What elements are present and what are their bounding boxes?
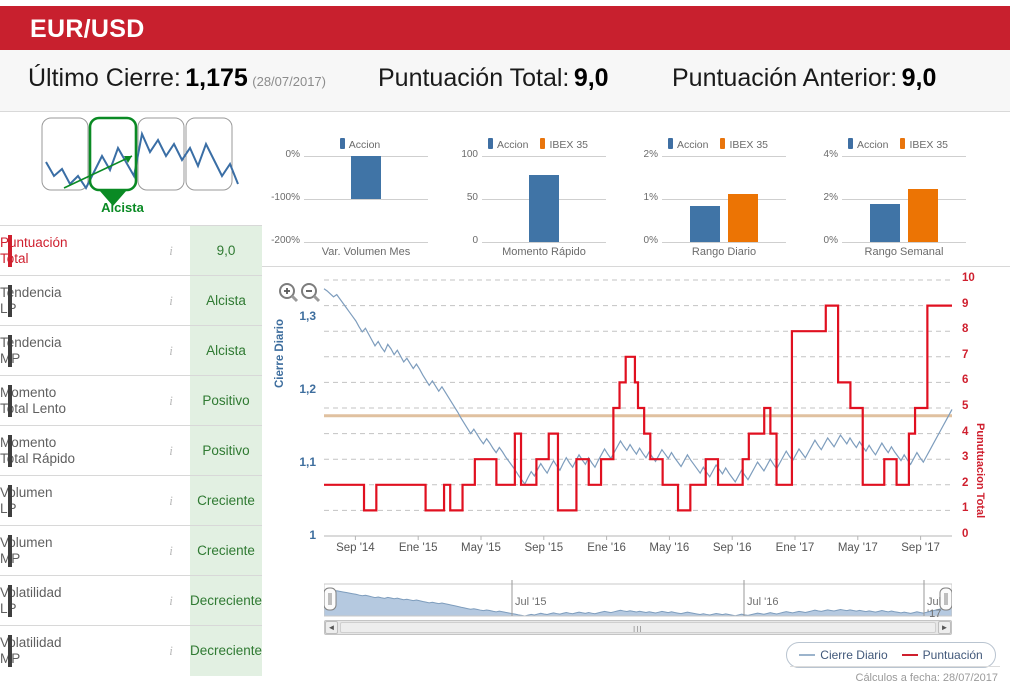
row-accent-bar	[8, 635, 12, 667]
info-icon[interactable]: i	[169, 243, 173, 258]
y-tick-right: 4	[962, 426, 982, 438]
bar-accion	[351, 156, 381, 199]
row-accent-bar	[8, 535, 12, 567]
info-icon[interactable]: i	[169, 343, 173, 358]
mini-plot: 0%-100%-200%Var. Volumen Mes	[304, 156, 428, 242]
indicator-row[interactable]: VolumenLPiCreciente	[0, 476, 262, 526]
y-tick: 2%	[628, 149, 658, 160]
y-tick: 1%	[628, 192, 658, 203]
bar-accion	[529, 175, 559, 242]
gridline	[842, 199, 966, 200]
legend-swatch-puntuacion	[902, 654, 918, 656]
legend-label: Accion	[857, 139, 889, 151]
indicator-table: PuntuaciónTotali9,0TendenciaLPiAlcistaTe…	[0, 225, 262, 676]
legend-swatch-accion	[668, 138, 673, 149]
navigator-label: Jul '15	[515, 596, 546, 608]
y-tick-left: 1	[280, 528, 316, 542]
mini-chart-caption: Rango Semanal	[808, 246, 1000, 258]
y-tick: 50	[448, 192, 478, 203]
mini-charts-strip: Accion0%-100%-200%Var. Volumen MesAccion…	[262, 112, 1010, 267]
scroll-right-button[interactable]: ►	[938, 621, 951, 634]
info-icon[interactable]: i	[169, 293, 173, 308]
y-tick-left: 1,2	[280, 382, 316, 396]
x-tick: Sep '16	[708, 542, 756, 554]
x-tick: Sep '17	[897, 542, 945, 554]
indicator-row[interactable]: MomentoTotal LentoiPositivo	[0, 376, 262, 426]
mini-plot: 2%1%0%Rango Diario	[662, 156, 786, 242]
pattern-label: Alcista	[0, 200, 245, 215]
info-icon[interactable]: i	[169, 493, 173, 508]
y-tick-right: 1	[962, 502, 982, 514]
mini-plot: 100500Momento Rápido	[482, 156, 606, 242]
x-tick: Ene '16	[583, 542, 631, 554]
x-tick: May '17	[834, 542, 882, 554]
x-tick: May '15	[457, 542, 505, 554]
mini-chart-caption: Momento Rápido	[448, 246, 640, 258]
scrollbar-grip[interactable]: III	[633, 625, 643, 634]
last-close-cell: Último Cierre: 1,175 (28/07/2017)	[28, 64, 326, 93]
total-score-value: 9,0	[574, 64, 609, 92]
mini-chart-1: Accion0%-100%-200%Var. Volumen Mes	[270, 112, 450, 264]
pattern-box-3[interactable]	[138, 118, 184, 190]
y-tick: 4%	[808, 149, 838, 160]
y-tick-right: 5	[962, 400, 982, 412]
x-tick: May '16	[645, 542, 693, 554]
mini-chart-3: AccionIBEX 352%1%0%Rango Diario	[628, 112, 808, 264]
legend-label: Accion	[497, 139, 529, 151]
legend-swatch-accion	[848, 138, 853, 149]
row-accent-bar	[8, 485, 12, 517]
legend-label: IBEX 35	[549, 139, 588, 151]
legend-swatch-ibex	[720, 138, 725, 149]
row-accent-bar	[8, 235, 12, 267]
y-tick: 0%	[270, 149, 300, 160]
indicator-row[interactable]: MomentoTotal RápidoiPositivo	[0, 426, 262, 476]
row-accent-bar	[8, 385, 12, 417]
row-accent-bar	[8, 435, 12, 467]
row-accent-bar	[8, 335, 12, 367]
gridline	[662, 242, 786, 243]
bar-accion	[690, 206, 720, 243]
indicator-value: Alcista	[206, 343, 246, 358]
pattern-widget[interactable]: Alcista	[0, 112, 262, 225]
chart-scrollbar[interactable]: ◄ III ►	[324, 620, 952, 635]
previous-score-value: 9,0	[902, 64, 937, 92]
total-score-cell: Puntuación Total: 9,0	[378, 64, 609, 93]
bar-ibex	[908, 189, 938, 242]
instrument-title: EUR/USD	[30, 15, 145, 44]
indicator-value: Positivo	[202, 393, 249, 408]
legend-label-cierre[interactable]: Cierre Diario	[820, 648, 887, 662]
row-accent-bar	[8, 285, 12, 317]
y-tick-left: 1,1	[280, 455, 316, 469]
y-tick-right: 3	[962, 451, 982, 463]
chart-navigator[interactable]: Jul '15Jul '16Jul '17	[324, 580, 952, 620]
main-chart[interactable]: Cierre Diario Punutuacion Total 1,31,21,…	[262, 268, 1010, 682]
chart-legend[interactable]: Cierre DiarioPuntuación	[786, 642, 996, 668]
y-tick-left: 1,3	[280, 309, 316, 323]
legend-label-puntuacion[interactable]: Puntuación	[923, 648, 983, 662]
y-tick: 0	[448, 235, 478, 246]
y-tick-right: 0	[962, 528, 982, 540]
legend-label: IBEX 35	[909, 139, 948, 151]
navigator-handle-left[interactable]	[324, 588, 336, 610]
x-tick: Ene '17	[771, 542, 819, 554]
indicator-row[interactable]: VolatilidadLPiDecreciente	[0, 576, 262, 626]
mini-chart-caption: Rango Diario	[628, 246, 820, 258]
y-tick-right: 9	[962, 298, 982, 310]
y-tick: 2%	[808, 192, 838, 203]
y-tick-right: 8	[962, 323, 982, 335]
gridline	[482, 156, 606, 157]
gridline	[304, 242, 428, 243]
mini-plot: 4%2%0%Rango Semanal	[842, 156, 966, 242]
footer-note: Cálculos a fecha: 28/07/2017	[856, 672, 999, 684]
x-tick: Ene '15	[394, 542, 442, 554]
info-icon[interactable]: i	[169, 543, 173, 558]
previous-score-cell: Puntuación Anterior: 9,0	[672, 64, 936, 93]
pattern-diagram	[20, 114, 265, 209]
last-close-label: Último Cierre:	[28, 64, 181, 92]
gridline	[842, 156, 966, 157]
info-icon[interactable]: i	[169, 643, 173, 658]
charts-panel: Accion0%-100%-200%Var. Volumen MesAccion…	[262, 112, 1010, 682]
scrollbar-track[interactable]: III	[340, 622, 936, 633]
x-tick: Sep '15	[520, 542, 568, 554]
legend-label: Accion	[349, 139, 381, 151]
last-close-value: 1,175	[185, 64, 248, 92]
navigator-label: Jul '17	[927, 596, 952, 620]
row-accent-bar	[8, 585, 12, 617]
indicator-value: Creciente	[197, 493, 255, 508]
scroll-left-button[interactable]: ◄	[325, 621, 338, 634]
title-bar: EUR/USD	[0, 6, 1010, 50]
info-icon[interactable]: i	[169, 443, 173, 458]
gridline	[662, 156, 786, 157]
indicator-row[interactable]: TendenciaMPiAlcista	[0, 326, 262, 376]
footer-divider	[790, 666, 1000, 667]
indicator-row[interactable]: PuntuaciónTotali9,0	[0, 226, 262, 276]
bar-accion	[870, 204, 900, 242]
info-icon[interactable]: i	[169, 393, 173, 408]
indicator-row[interactable]: VolumenMPiCreciente	[0, 526, 262, 576]
legend-swatch-cierre	[799, 654, 815, 656]
indicator-value: Decreciente	[190, 593, 262, 608]
legend-swatch-ibex	[540, 138, 545, 149]
gridline	[842, 242, 966, 243]
legend-swatch-ibex	[900, 138, 905, 149]
indicator-label-line2: Total	[0, 251, 29, 266]
price-score-plot	[262, 268, 1010, 568]
gridline	[482, 242, 606, 243]
gridline	[662, 199, 786, 200]
mini-chart-caption: Var. Volumen Mes	[270, 246, 462, 258]
legend-swatch-accion	[488, 138, 493, 149]
y-tick-right: 2	[962, 477, 982, 489]
summary-bar: Último Cierre: 1,175 (28/07/2017) Puntua…	[0, 50, 1010, 112]
mini-chart-2: AccionIBEX 35100500Momento Rápido	[448, 112, 628, 264]
y-tick: 0%	[808, 235, 838, 246]
gridline	[304, 199, 428, 200]
mini-chart-4: AccionIBEX 354%2%0%Rango Semanal	[808, 112, 988, 264]
dashboard-page: EUR/USD Último Cierre: 1,175 (28/07/2017…	[0, 0, 1010, 691]
y-tick-right: 10	[962, 272, 982, 284]
y-tick: -200%	[270, 235, 300, 246]
indicator-value: Positivo	[202, 443, 249, 458]
indicator-sidebar: Alcista PuntuaciónTotali9,0TendenciaLPiA…	[0, 112, 262, 682]
indicator-value: Decreciente	[190, 643, 262, 658]
indicator-row[interactable]: TendenciaLPiAlcista	[0, 276, 262, 326]
y-tick-right: 6	[962, 374, 982, 386]
indicator-row[interactable]: VolatilidadMPiDecreciente	[0, 626, 262, 676]
legend-label: Accion	[677, 139, 709, 151]
legend-label: IBEX 35	[729, 139, 768, 151]
info-icon[interactable]: i	[169, 593, 173, 608]
y-tick: 0%	[628, 235, 658, 246]
x-tick: Sep '14	[331, 542, 379, 554]
legend-swatch-accion	[340, 138, 345, 149]
bar-ibex	[728, 194, 758, 242]
indicator-value: Alcista	[206, 293, 246, 308]
y-tick: -100%	[270, 192, 300, 203]
indicator-value: Creciente	[197, 543, 255, 558]
y-tick: 100	[448, 149, 478, 160]
y-tick-right: 7	[962, 349, 982, 361]
indicator-value: 9,0	[217, 243, 236, 258]
navigator-label: Jul '16	[747, 596, 778, 608]
last-close-date: (28/07/2017)	[252, 74, 326, 89]
pattern-box-2[interactable]	[90, 118, 136, 190]
total-score-label: Puntuación Total:	[378, 64, 569, 92]
previous-score-label: Puntuación Anterior:	[672, 64, 897, 92]
